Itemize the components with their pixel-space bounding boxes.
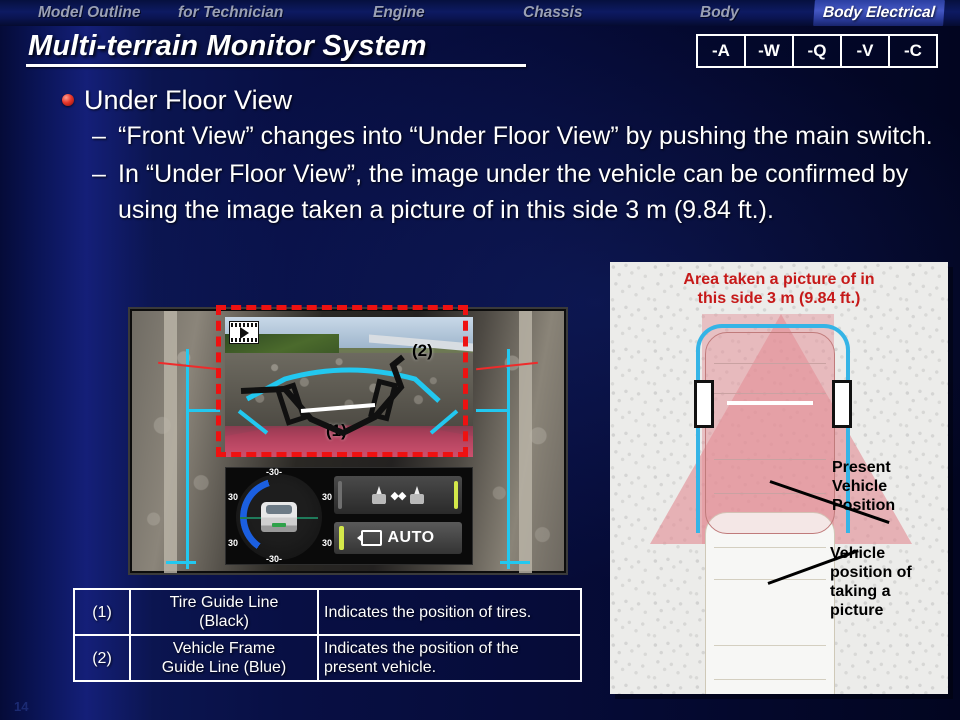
nav-item-engine[interactable]: Engine	[373, 0, 425, 26]
overhead-area-diagram: Area taken a picture of in this side 3 m…	[610, 262, 948, 694]
tire-box-right	[371, 382, 395, 419]
chip-w[interactable]: -W	[746, 36, 794, 66]
chip-v[interactable]: -V	[842, 36, 890, 66]
kerb-left	[164, 311, 177, 575]
bullet-dot-icon	[62, 94, 74, 106]
bullet-list: – “Front View” changes into “Under Floor…	[92, 118, 937, 228]
nav-item-for-technician[interactable]: for Technician	[178, 0, 283, 26]
label-present-line1: Present	[832, 458, 895, 477]
camera-control-panel: -30- -30- 30 30 30 30 ◆◆ AUTO	[225, 467, 473, 565]
diagram-caption-line2: this side 3 m (9.84 ft.)	[610, 289, 948, 308]
gauge-label-left-top: 30	[228, 492, 238, 502]
view-mode-left-edge-indicator	[338, 481, 342, 509]
inclinometer-gauge	[236, 474, 322, 560]
vehicle-frame-guide-line-blue	[247, 370, 439, 401]
label-taking-line3: taking a	[830, 582, 912, 601]
code-chip-group: -A -W -Q -V -C	[696, 34, 938, 68]
view-mode-right-edge-indicator	[454, 481, 458, 509]
guide-line-blue-right-leg	[431, 411, 457, 433]
mirror-right-icon	[832, 380, 852, 428]
nav-item-body[interactable]: Body	[700, 0, 739, 26]
tire-box-left	[278, 385, 304, 422]
guide-line-overlay-svg	[225, 317, 473, 457]
guide-line-right-tick-mid	[476, 409, 510, 412]
dash-marker-icon: –	[92, 118, 106, 154]
guide-line-left-tick-mid	[186, 409, 220, 412]
view-icon-left	[373, 486, 385, 504]
legend-desc-1: Indicates the position of tires.	[318, 589, 581, 635]
section-heading-label: Under Floor View	[84, 84, 292, 116]
camera-display-figure: (2) (1) -30- -30- 30 30 30 30 ◆◆	[128, 307, 568, 575]
swap-arrows-icon: ◆◆	[391, 489, 406, 502]
legend-index-1: (1)	[74, 589, 130, 635]
legend-table: (1) Tire Guide Line (Black) Indicates th…	[73, 588, 582, 682]
auto-button-label: AUTO	[387, 529, 434, 547]
top-navigation-bar: Model Outline for Technician Engine Chas…	[0, 0, 960, 26]
legend-index-2: (2)	[74, 635, 130, 681]
slide-background: Model Outline for Technician Engine Chas…	[0, 0, 960, 720]
auto-mode-button[interactable]: AUTO	[334, 522, 462, 554]
car-line-b4	[714, 679, 826, 680]
mini-car-icon-left	[372, 494, 386, 504]
section-heading-row: Under Floor View	[62, 84, 292, 116]
page-number: 14	[14, 699, 28, 714]
guide-line-right-tick-low	[500, 561, 530, 564]
view-mode-button[interactable]: ◆◆	[334, 476, 462, 514]
vehicle-outline-taking-picture	[705, 512, 835, 694]
label-taking-line4: picture	[830, 601, 912, 620]
chip-a[interactable]: -A	[698, 36, 746, 66]
nav-item-chassis[interactable]: Chassis	[523, 0, 582, 26]
legend-name-2-line1: Vehicle Frame	[136, 639, 312, 658]
diagram-caption: Area taken a picture of in this side 3 m…	[610, 270, 948, 308]
tire-guide-line-black	[241, 357, 403, 433]
legend-name-2: Vehicle Frame Guide Line (Blue)	[130, 635, 318, 681]
list-item-text: “Front View” changes into “Under Floor V…	[118, 118, 937, 154]
legend-name-1: Tire Guide Line (Black)	[130, 589, 318, 635]
center-white-bar	[301, 405, 375, 411]
list-item: – In “Under Floor View”, the image under…	[92, 156, 937, 228]
car-line-b1	[714, 547, 826, 548]
legend-name-1-line1: Tire Guide Line	[136, 593, 312, 612]
gauge-label-left-bottom: 30	[228, 538, 238, 548]
auto-edge-indicator	[339, 526, 344, 550]
label-present-line2: Vehicle	[832, 477, 895, 496]
mirror-axis-bar	[727, 401, 813, 405]
page-title: Multi-terrain Monitor System	[28, 30, 427, 63]
view-icon-right	[411, 486, 423, 504]
front-camera-view[interactable]	[225, 317, 473, 457]
label-vehicle-position-taking-picture: Vehicle position of taking a picture	[830, 544, 912, 620]
list-item: – “Front View” changes into “Under Floor…	[92, 118, 937, 154]
list-item-text: In “Under Floor View”, the image under t…	[118, 156, 937, 228]
table-row: (1) Tire Guide Line (Black) Indicates th…	[74, 589, 581, 635]
legend-desc-2: Indicates the position of the present ve…	[318, 635, 581, 681]
diagram-caption-line1: Area taken a picture of in	[610, 270, 948, 289]
kerb-right	[519, 311, 532, 575]
nav-item-body-electrical[interactable]: Body Electrical	[813, 0, 945, 26]
guide-line-blue-left-leg	[239, 411, 267, 433]
guide-line-left-vertical	[186, 349, 189, 569]
chip-c[interactable]: -C	[890, 36, 936, 66]
mini-car-icon-right	[410, 494, 424, 504]
gauge-label-top: -30-	[266, 467, 282, 477]
gauge-label-right-top: 30	[322, 492, 332, 502]
guide-line-left-tick-low	[166, 561, 196, 564]
chip-q[interactable]: -Q	[794, 36, 842, 66]
mirror-left-icon	[694, 380, 714, 428]
car-line-b3	[714, 645, 826, 646]
label-taking-line2: position of	[830, 563, 912, 582]
table-row: (2) Vehicle Frame Guide Line (Blue) Indi…	[74, 635, 581, 681]
nav-item-model-outline[interactable]: Model Outline	[38, 0, 140, 26]
dash-marker-icon: –	[92, 156, 106, 192]
guide-line-right-vertical	[507, 349, 510, 569]
title-underline	[26, 64, 526, 67]
gauge-vehicle-icon	[261, 502, 297, 532]
camera-icon	[361, 530, 382, 546]
gauge-label-right-bottom: 30	[322, 538, 332, 548]
label-present-line3: Position	[832, 496, 895, 515]
label-taking-line1: Vehicle	[830, 544, 912, 563]
label-present-vehicle-position: Present Vehicle Position	[832, 458, 895, 515]
legend-name-1-line2: (Black)	[136, 612, 312, 631]
legend-name-2-line2: Guide Line (Blue)	[136, 658, 312, 677]
gauge-label-bottom: -30-	[266, 554, 282, 564]
